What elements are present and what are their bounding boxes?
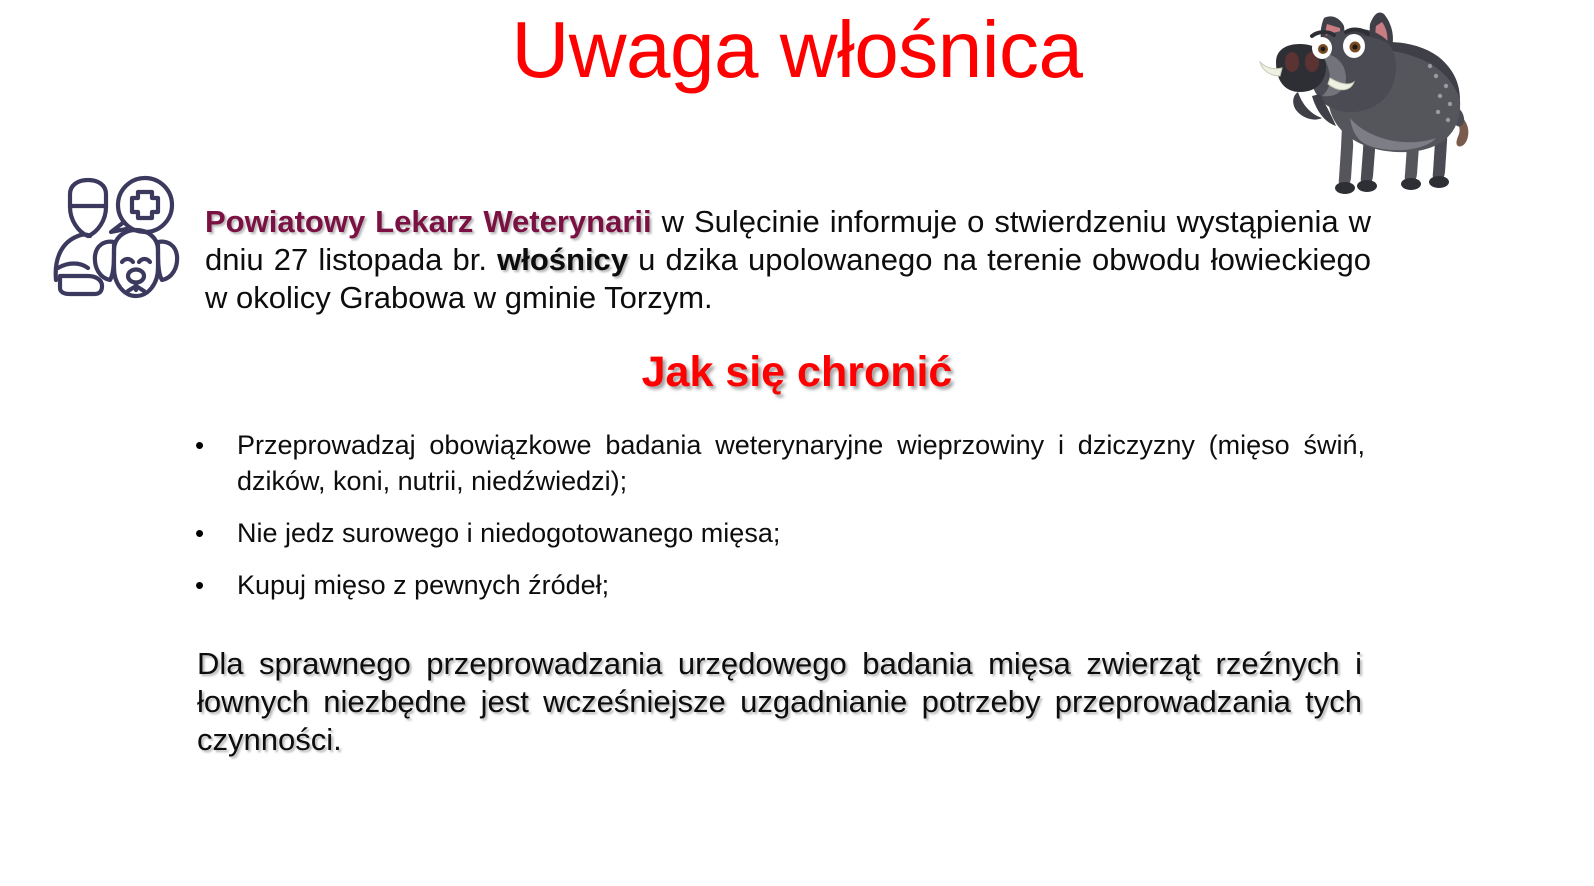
dog-ear-right bbox=[158, 242, 177, 280]
list-item: • Przeprowadzaj obowiązkowe badania wete… bbox=[190, 427, 1365, 499]
poster-slide: Uwaga włośnica bbox=[0, 0, 1594, 886]
list-item-label: Przeprowadzaj obowiązkowe badania wetery… bbox=[237, 427, 1365, 499]
disease-name: włośnicy bbox=[497, 242, 628, 277]
list-item: • Kupuj mięso z pewnych źródeł; bbox=[190, 567, 1365, 603]
section-heading: Jak się chronić bbox=[0, 350, 1594, 395]
intro-paragraph: Powiatowy Lekarz Weterynarii w Sulęcinie… bbox=[205, 203, 1371, 317]
boar-hoof-1 bbox=[1429, 176, 1449, 188]
list-item-label: Nie jedz surowego i niedogotowanego mięs… bbox=[237, 515, 1365, 551]
speech-bubble bbox=[118, 178, 172, 232]
boar-hoof-3 bbox=[1357, 180, 1377, 192]
bullet-icon: • bbox=[190, 515, 237, 551]
boar-pupil-left bbox=[1321, 47, 1326, 52]
boar-hoof-2 bbox=[1401, 178, 1421, 190]
vet-shoulder bbox=[56, 235, 90, 281]
boar-hoof-4 bbox=[1335, 182, 1355, 194]
list-item: • Nie jedz surowego i niedogotowanego mi… bbox=[190, 515, 1365, 551]
veterinarian-with-dog-icon bbox=[48, 172, 198, 307]
boar-pupil-right bbox=[1352, 44, 1357, 49]
boar-nostril-left bbox=[1285, 52, 1299, 72]
authority-name: Powiatowy Lekarz Weterynarii bbox=[205, 204, 652, 239]
prevention-list: • Przeprowadzaj obowiązkowe badania wete… bbox=[190, 427, 1365, 619]
medical-cross-icon bbox=[132, 192, 158, 218]
list-item-label: Kupuj mięso z pewnych źródeł; bbox=[237, 567, 1365, 603]
closing-paragraph: Dla sprawnego przeprowadzania urzędowego… bbox=[197, 645, 1362, 759]
dog-ear-left bbox=[95, 242, 114, 280]
wild-boar-illustration bbox=[1258, 0, 1488, 195]
dog-nose bbox=[128, 270, 144, 283]
dog-eye-right bbox=[139, 259, 150, 262]
bullet-icon: • bbox=[190, 567, 237, 603]
speech-bubble-tail bbox=[111, 222, 126, 232]
vet-arm-sleeve bbox=[60, 276, 102, 294]
dog-eye-left bbox=[122, 259, 133, 262]
bullet-icon: • bbox=[190, 427, 237, 463]
vet-arm bbox=[58, 264, 88, 269]
